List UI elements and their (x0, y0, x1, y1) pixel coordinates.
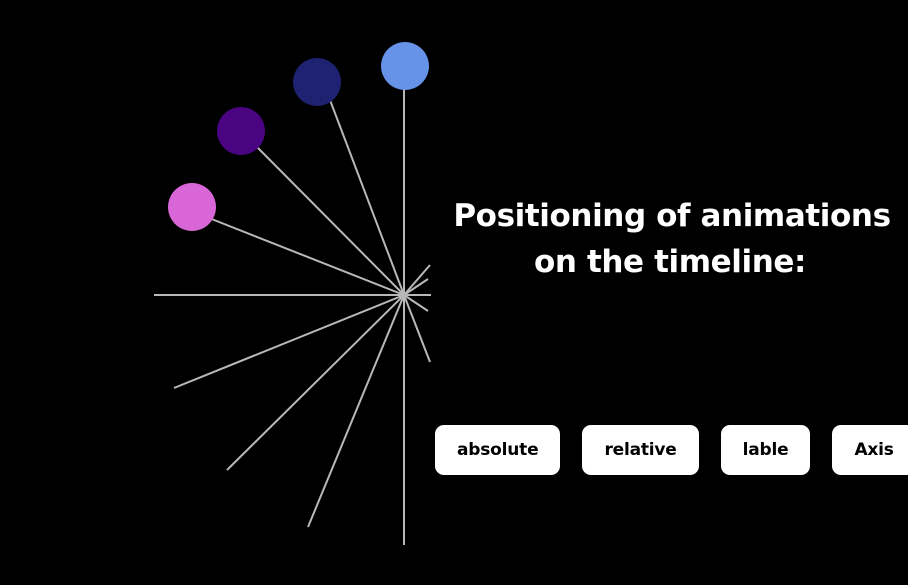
page-title-line-1: Positioning of animations (436, 193, 908, 239)
node-pink[interactable] (168, 183, 216, 231)
page-title-line-2: on the timeline: (432, 239, 908, 285)
ray-to-purple-circle (257, 147, 404, 295)
button-relative[interactable]: relative (582, 425, 698, 475)
ray-to-navy-circle (330, 100, 404, 295)
ray-lower-left-steep (308, 295, 404, 527)
ray-lower-right-long (404, 295, 430, 362)
ray-lines-group (154, 88, 431, 545)
page-title: Positioning of animations on the timelin… (432, 193, 908, 285)
circle-nodes-group (168, 42, 429, 231)
node-purple[interactable] (217, 107, 265, 155)
radial-timeline-diagram (0, 0, 908, 585)
positioning-options-row: absolute relative lable Axis (435, 425, 908, 475)
ray-lower-left-mid (227, 295, 404, 470)
button-absolute[interactable]: absolute (435, 425, 560, 475)
node-blue[interactable] (381, 42, 429, 90)
ray-to-pink-circle (209, 218, 404, 295)
button-lable[interactable]: lable (721, 425, 811, 475)
ray-lower-left-shallow (174, 295, 404, 388)
button-axis[interactable]: Axis (832, 425, 908, 475)
animation-timeline-slide: Positioning of animations on the timelin… (0, 0, 908, 585)
node-navy[interactable] (293, 58, 341, 106)
